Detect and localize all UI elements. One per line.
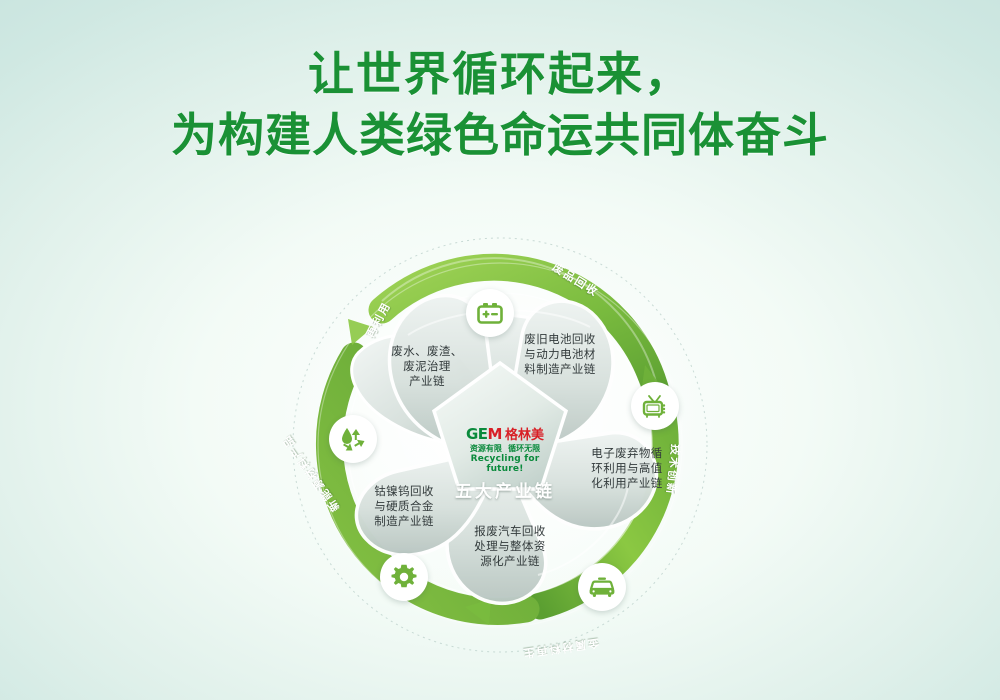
tv-icon-bubble [631, 382, 679, 430]
battery-icon-bubble [466, 289, 514, 337]
car-icon [588, 577, 616, 597]
battery-icon [477, 302, 503, 324]
gear-icon-bubble [380, 553, 428, 601]
car-icon-bubble [578, 563, 626, 611]
gear-icon [391, 564, 417, 590]
circular-industry-chain-diagram: GEM 格林美 资源有限 循环无限 Recycling for future! … [290, 215, 710, 675]
recycle-drop-icon [339, 426, 367, 452]
page-title-line-2: 为构建人类绿色命运共同体奋斗 [0, 105, 1000, 166]
tv-icon [642, 394, 668, 419]
page-title-line-1: 让世界循环起来， [0, 44, 1000, 105]
page-title: 让世界循环起来， 为构建人类绿色命运共同体奋斗 [0, 44, 1000, 165]
recycle-drop-icon-bubble [329, 415, 377, 463]
poster-canvas: 让世界循环起来， 为构建人类绿色命运共同体奋斗 [0, 0, 1000, 700]
